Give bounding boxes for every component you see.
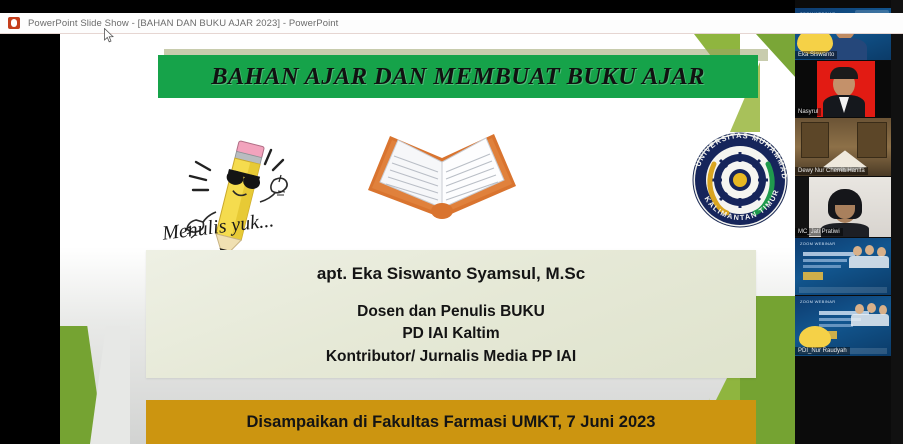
- participant-name-3: MC_Jati Pratiwi: [795, 228, 843, 236]
- video-header-text-5: ZOOM WEBINAR: [800, 299, 835, 304]
- presenter-name: apt. Eka Siswanto Syamsul, M.Sc: [317, 264, 585, 284]
- pencil-character-icon: Menulis yuk...: [138, 120, 318, 270]
- window-title-text: PowerPoint Slide Show - [BAHAN DAN BUKU …: [28, 18, 338, 29]
- screen-root: PowerPoint Slide Show - [BAHAN DAN BUKU …: [0, 0, 903, 444]
- participant-name-0: Eka Siswanto: [795, 51, 837, 59]
- mouse-pointer-icon: [104, 28, 115, 43]
- powerpoint-icon: [8, 17, 20, 29]
- slide-title-banner: BAHAN AJAR DAN MEMBUAT BUKU AJAR: [158, 55, 758, 98]
- participant-tile-3[interactable]: MC_Jati Pratiwi: [795, 177, 891, 237]
- participant-tile-4[interactable]: ZOOM WEBINAR: [795, 238, 891, 295]
- slide-footer-banner: Disampaikan di Fakultas Farmasi UMKT, 7 …: [146, 400, 756, 444]
- window-title-bar: PowerPoint Slide Show - [BAHAN DAN BUKU …: [0, 13, 903, 34]
- presenter-roles: Dosen dan Penulis BUKU PD IAI Kaltim Kon…: [326, 301, 576, 368]
- participant-tile-5[interactable]: ZOOM WEBINAR PDI_Nur Raudyah: [795, 296, 891, 356]
- video-header-text-4: ZOOM WEBINAR: [800, 241, 835, 246]
- filmstrip-right-edge: [891, 0, 903, 444]
- presenter-role-1: PD IAI Kaltim: [326, 323, 576, 345]
- participant-tile-2[interactable]: Dewy Nur Cherrih Hanifa: [795, 118, 891, 176]
- open-book-icon: [350, 112, 530, 242]
- participant-filmstrip[interactable]: ZOOM WEBINAR Eka Siswanto Nasyrul: [795, 0, 891, 444]
- presenter-info-panel: apt. Eka Siswanto Syamsul, M.Sc Dosen da…: [146, 250, 756, 378]
- slide-footer-text: Disampaikan di Fakultas Farmasi UMKT, 7 …: [247, 413, 656, 432]
- slide-title-text: BAHAN AJAR DAN MEMBUAT BUKU AJAR: [211, 63, 705, 91]
- participant-name-5: PDI_Nur Raudyah: [795, 347, 850, 355]
- presenter-role-2: Kontributor/ Jurnalis Media PP IAI: [326, 346, 576, 368]
- university-logo-icon: UNIVERSITAS MUHAMMADIYAH KALIMANTAN TIMU…: [684, 116, 796, 238]
- participant-name-2: Dewy Nur Cherrih Hanifa: [795, 167, 868, 175]
- participant-name-1: Nasyrul: [795, 108, 821, 116]
- presenter-role-0: Dosen dan Penulis BUKU: [326, 301, 576, 323]
- participant-tile-1[interactable]: Nasyrul: [795, 61, 891, 117]
- powerpoint-slide[interactable]: BAHAN AJAR DAN MEMBUAT BUKU AJAR: [60, 34, 796, 444]
- participant-video-4: ZOOM WEBINAR: [795, 238, 891, 295]
